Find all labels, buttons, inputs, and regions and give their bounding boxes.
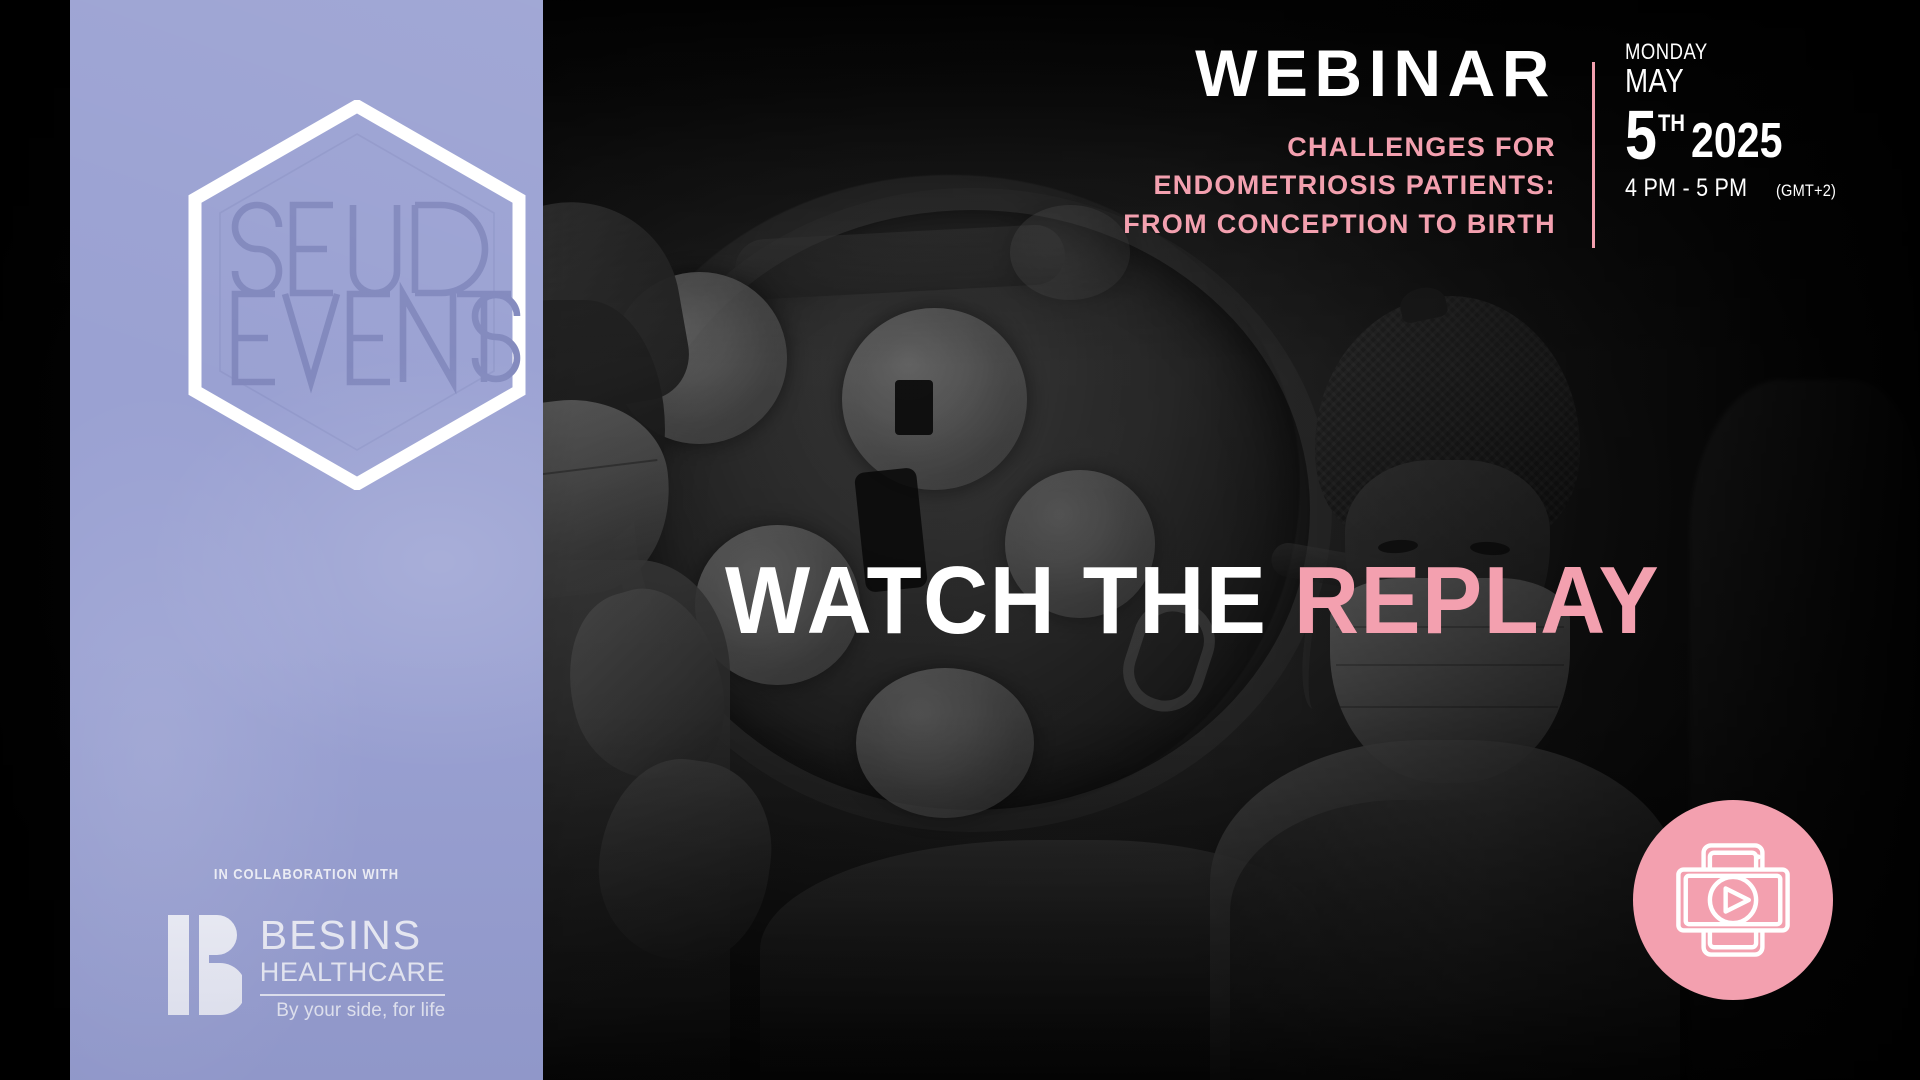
- headline-replay: REPLAY: [1294, 547, 1660, 654]
- event-timezone: (GMT+2): [1776, 181, 1836, 201]
- date-month: MAY: [1625, 64, 1811, 98]
- event-time-row: 4 PM - 5 PM (GMT+2): [1625, 174, 1846, 203]
- headline-watch-the: WATCH THE: [725, 547, 1294, 654]
- webinar-promo-banner: IN COLLABORATION WITH BESINS HEALTHCARE …: [0, 0, 1920, 1080]
- event-subtitle: CHALLENGES FOR ENDOMETRIOSIS PATIENTS: F…: [1123, 128, 1556, 243]
- date-numeric-row: 5 TH 2025: [1625, 106, 1846, 165]
- besins-tagline: By your side, for life: [260, 1000, 446, 1022]
- besins-divider-rule: [260, 994, 446, 996]
- date-year: 2025: [1691, 118, 1783, 165]
- event-time: 4 PM - 5 PM: [1625, 174, 1747, 203]
- logo-word-events: [235, 294, 517, 382]
- watch-replay-button[interactable]: [1633, 800, 1833, 1000]
- besins-healthcare-logo: BESINS HEALTHCARE By your side, for life: [70, 915, 543, 1022]
- eyebrow-webinar: WEBINAR: [1123, 40, 1556, 106]
- event-title-block: WEBINAR CHALLENGES FOR ENDOMETRIOSIS PAT…: [1123, 40, 1592, 243]
- logo-word-seud: [235, 205, 485, 293]
- besins-wordmark: BESINS HEALTHCARE By your side, for life: [260, 915, 446, 1022]
- besins-b-logomark: [168, 915, 242, 1015]
- date-weekday: MONDAY: [1625, 40, 1811, 63]
- headline-watch-the-replay[interactable]: WATCH THE REPLAY: [725, 553, 1660, 649]
- date-ordinal-suffix: TH: [1658, 112, 1685, 136]
- collaboration-block: IN COLLABORATION WITH BESINS HEALTHCARE …: [70, 866, 543, 1022]
- date-day-number: 5: [1625, 106, 1657, 165]
- seud-events-hexagon-logo: [187, 100, 527, 490]
- event-date-block: MONDAY MAY 5 TH 2025 4 PM - 5 PM (GMT+2): [1595, 40, 1846, 203]
- besins-subname: HEALTHCARE: [260, 957, 446, 987]
- video-play-icon: [1670, 837, 1796, 963]
- event-header: WEBINAR CHALLENGES FOR ENDOMETRIOSIS PAT…: [1123, 40, 1846, 254]
- collaboration-label: IN COLLABORATION WITH: [103, 866, 510, 883]
- brand-panel: IN COLLABORATION WITH BESINS HEALTHCARE …: [70, 0, 543, 1080]
- besins-name: BESINS: [260, 915, 446, 955]
